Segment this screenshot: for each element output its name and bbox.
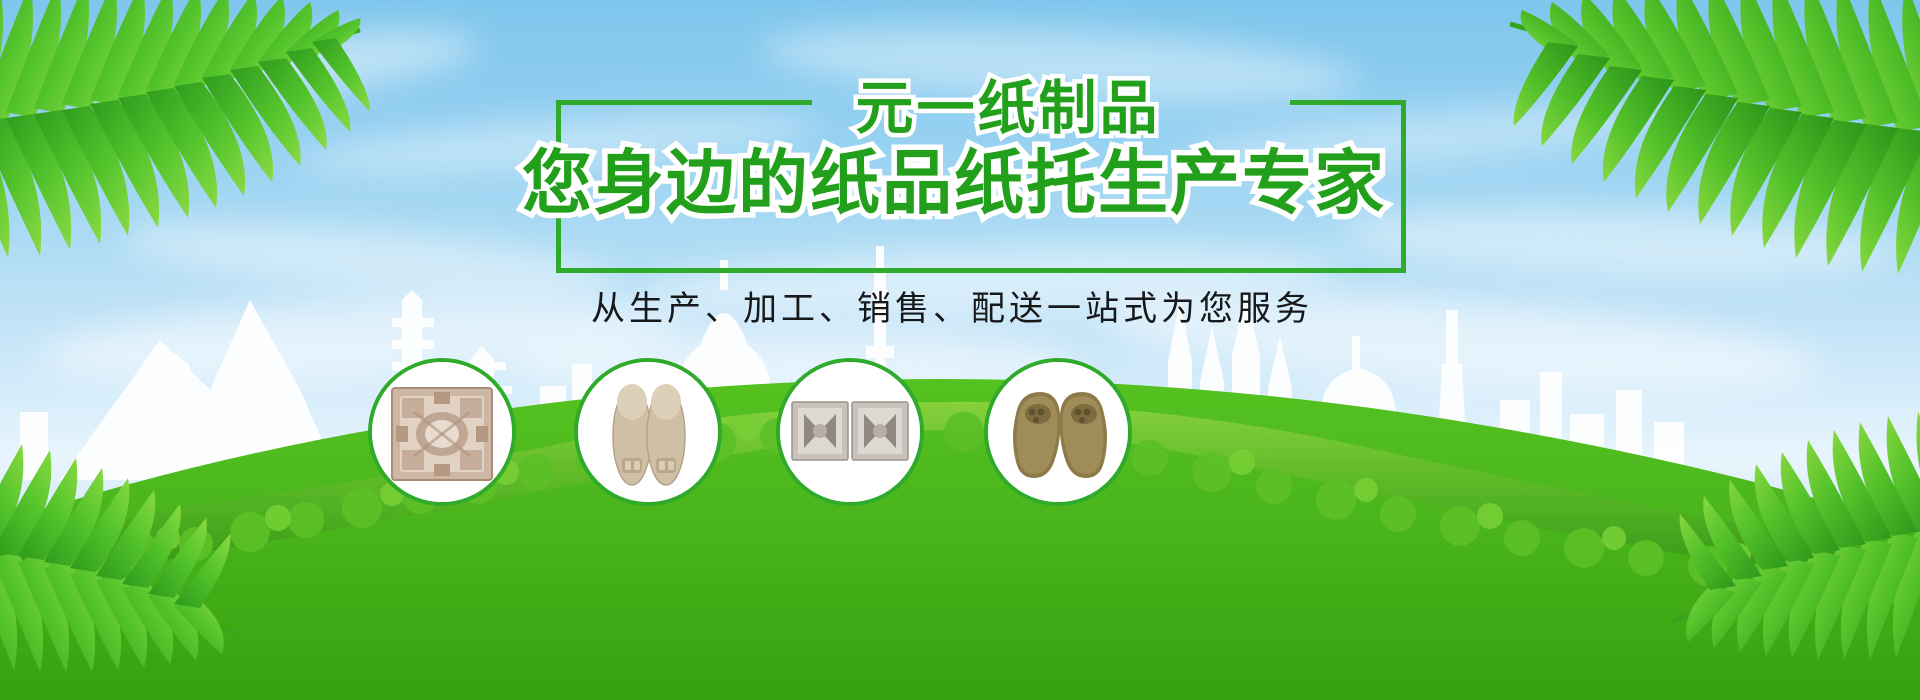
product-circle-1[interactable] (368, 358, 516, 506)
product-circle-3[interactable] (776, 358, 924, 506)
molded-pulp-corner-protectors-icon (780, 362, 920, 502)
product-circle-2[interactable] (574, 358, 722, 506)
molded-pulp-shoe-tree-pair-icon (578, 362, 718, 502)
molded-pulp-square-tray-icon (372, 362, 512, 502)
promo-banner: 元一纸制品 您身边的纸品纸托生产专家 从生产、加工、销售、配送一站式为您服务 (0, 0, 1920, 700)
molded-pulp-shoe-inserts-dark-icon (988, 362, 1128, 502)
product-circle-4[interactable] (984, 358, 1132, 506)
palm-frond-icon (1490, 0, 1920, 290)
palm-frond-icon (0, 0, 380, 270)
palm-frond-icon (0, 430, 250, 690)
palm-frond-icon (1660, 400, 1920, 680)
